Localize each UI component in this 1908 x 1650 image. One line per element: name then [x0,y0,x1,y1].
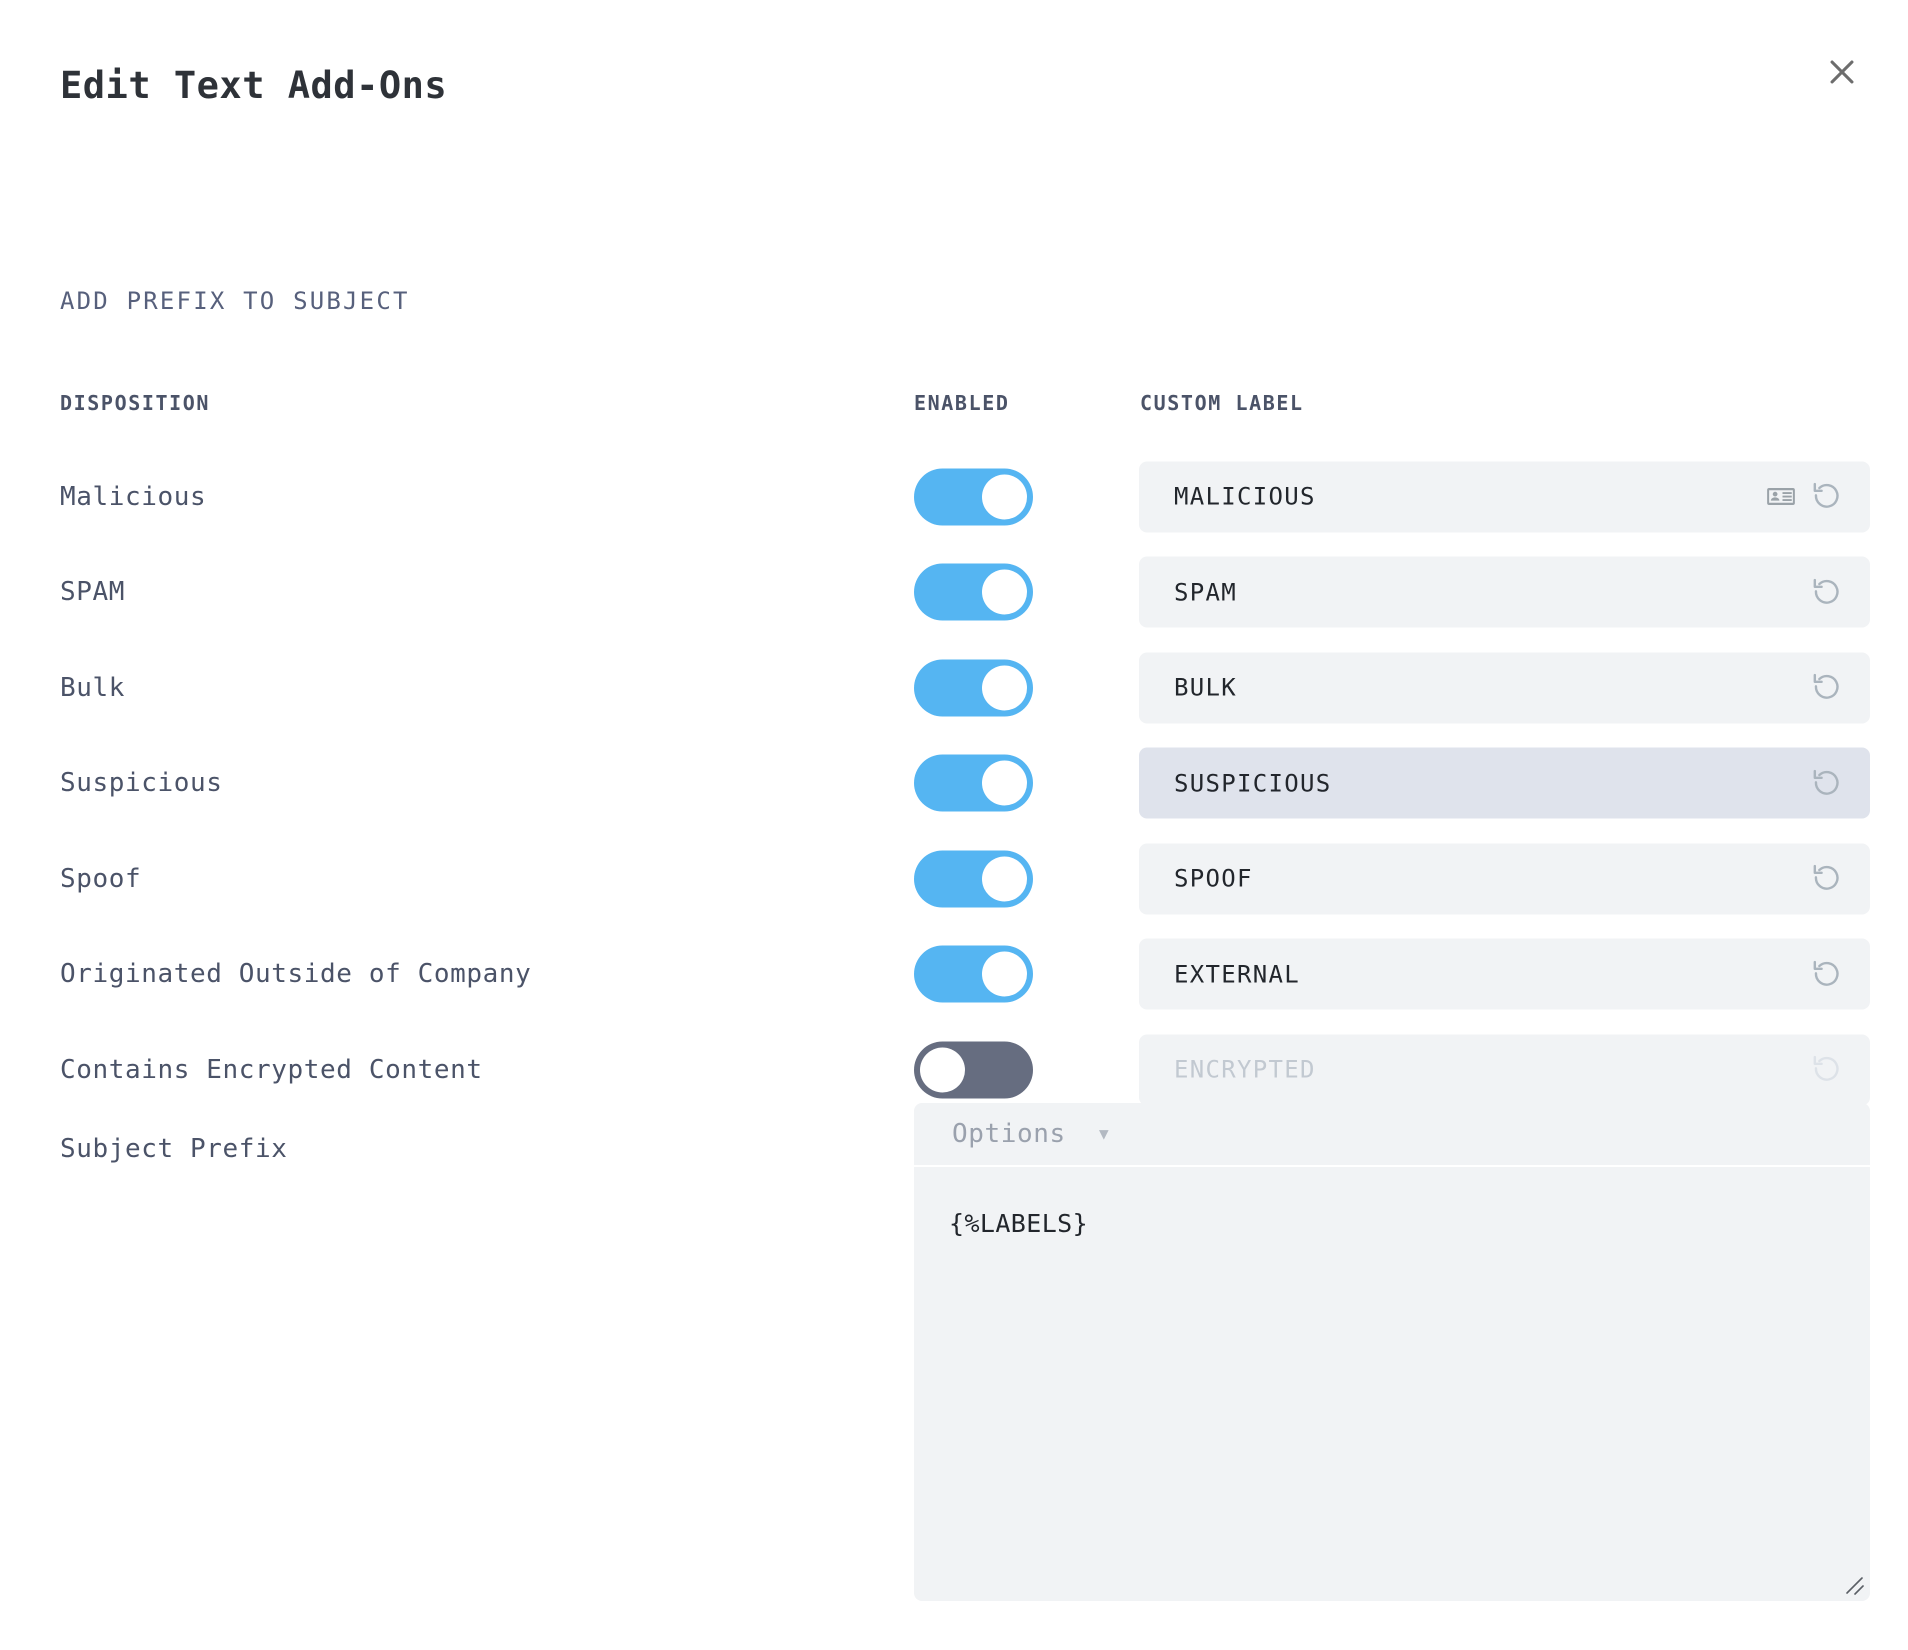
toggle-knob [982,761,1027,806]
edit-text-addons-dialog: Edit Text Add-Ons ADD PREFIX TO SUBJECT … [0,0,1908,1650]
custom-label-value: BULK [1174,674,1237,702]
subject-prefix-textarea-value: {%LABELS} [949,1209,1088,1238]
field-icon-group [1810,862,1844,896]
custom-label-input[interactable]: EXTERNAL [1139,939,1870,1010]
table-row: SpoofSPOOF [0,832,1908,925]
resize-grip-icon[interactable] [1842,1574,1864,1596]
reset-icon[interactable] [1810,480,1844,514]
reset-icon[interactable] [1810,957,1844,991]
table-row: MaliciousMALICIOUS [0,450,1908,543]
field-icon-group [1810,1053,1844,1087]
enabled-toggle[interactable] [914,755,1033,812]
toggle-knob [920,1047,965,1092]
custom-label-input[interactable]: BULK [1139,652,1870,723]
row-disposition-label: Spoof [60,864,141,894]
enabled-toggle[interactable] [914,1041,1033,1098]
column-header-enabled: ENABLED [914,391,1010,415]
field-icon-group [1810,671,1844,705]
field-icon-group [1810,957,1844,991]
column-header-disposition: DISPOSITION [60,391,210,415]
custom-label-value: EXTERNAL [1174,960,1300,988]
enabled-toggle[interactable] [914,946,1033,1003]
options-dropdown[interactable]: Options ▼ [914,1103,1870,1165]
row-disposition-label: Suspicious [60,768,223,798]
custom-label-value: SPAM [1174,578,1237,606]
custom-label-value: MALICIOUS [1174,483,1316,511]
custom-label-value: SPOOF [1174,865,1253,893]
enabled-toggle[interactable] [914,659,1033,716]
table-row: SuspiciousSUSPICIOUS [0,737,1908,830]
row-disposition-label: Originated Outside of Company [60,959,531,989]
custom-label-value: SUSPICIOUS [1174,769,1332,797]
section-label-add-prefix-to-subject: ADD PREFIX TO SUBJECT [60,287,410,315]
reset-icon[interactable] [1810,1053,1844,1087]
table-row: Originated Outside of CompanyEXTERNAL [0,928,1908,1021]
toggle-knob [982,474,1027,519]
custom-label-input[interactable]: MALICIOUS [1139,461,1870,532]
subject-prefix-textarea[interactable]: {%LABELS} [914,1167,1870,1601]
custom-label-input[interactable]: SUSPICIOUS [1139,748,1870,819]
row-disposition-label: SPAM [60,577,125,607]
custom-label-value: ENCRYPTED [1174,1056,1316,1084]
custom-label-input[interactable]: SPAM [1139,557,1870,628]
custom-label-input[interactable]: ENCRYPTED [1139,1034,1870,1105]
enabled-toggle[interactable] [914,850,1033,907]
field-icon-group [1810,766,1844,800]
reset-icon[interactable] [1810,575,1844,609]
toggle-knob [982,665,1027,710]
field-icon-group [1810,575,1844,609]
close-icon[interactable] [1814,44,1870,100]
row-disposition-label: Malicious [60,482,206,512]
field-icon-group [1766,480,1844,514]
row-disposition-label: Bulk [60,673,125,703]
chevron-down-icon: ▼ [1099,1126,1109,1142]
custom-label-input[interactable]: SPOOF [1139,843,1870,914]
reset-icon[interactable] [1810,671,1844,705]
toggle-knob [982,570,1027,615]
toggle-knob [982,856,1027,901]
table-row: SPAMSPAM [0,546,1908,639]
page-title: Edit Text Add-Ons [60,64,447,107]
enabled-toggle[interactable] [914,468,1033,525]
reset-icon[interactable] [1810,766,1844,800]
reset-icon[interactable] [1810,862,1844,896]
column-header-custom-label: CUSTOM LABEL [1140,391,1304,415]
contact-card-icon[interactable] [1766,482,1796,512]
table-row: BulkBULK [0,641,1908,734]
subject-prefix-label: Subject Prefix [60,1134,288,1164]
toggle-knob [982,952,1027,997]
row-disposition-label: Contains Encrypted Content [60,1055,483,1085]
options-dropdown-label: Options [952,1119,1066,1149]
enabled-toggle[interactable] [914,564,1033,621]
